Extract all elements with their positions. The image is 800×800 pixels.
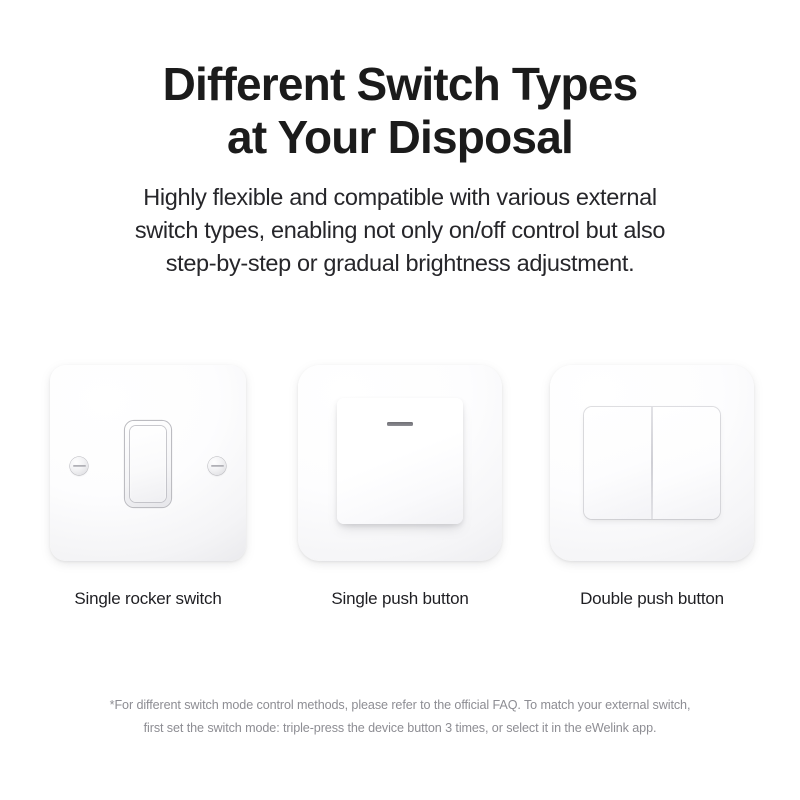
screw-icon: [208, 457, 226, 475]
push-button-paddle-left: [584, 407, 651, 519]
screw-icon: [70, 457, 88, 475]
rocker-bezel: [125, 421, 171, 507]
led-indicator-icon: [387, 422, 413, 426]
subtitle-line-1: Highly flexible and compatible with vari…: [90, 181, 710, 214]
page-title: Different Switch Types at Your Disposal: [0, 58, 800, 165]
product-gallery: Single rocker switch Single push button: [0, 360, 800, 620]
footnote-line-1: *For different switch mode control metho…: [0, 694, 800, 717]
faceplate: [50, 365, 246, 561]
faceplate: [298, 365, 502, 561]
double-push-button-image: [546, 360, 758, 565]
product-caption: Single rocker switch: [42, 589, 254, 609]
rocker-paddle: [130, 426, 166, 502]
footnote-line-2: first set the switch mode: triple-press …: [0, 717, 800, 740]
headline-line-1: Different Switch Types: [60, 58, 740, 111]
subtitle-line-3: step-by-step or gradual brightness adjus…: [90, 247, 710, 280]
header-block: Different Switch Types at Your Disposal …: [0, 58, 800, 281]
single-rocker-switch-image: [42, 360, 254, 565]
page-subtitle: Highly flexible and compatible with vari…: [90, 181, 710, 281]
product-double-push-button: Double push button: [546, 360, 758, 609]
faceplate: [550, 365, 754, 561]
subtitle-line-2: switch types, enabling not only on/off c…: [90, 214, 710, 247]
dual-paddle-group: [584, 407, 720, 519]
product-single-rocker-switch: Single rocker switch: [42, 360, 254, 609]
product-feature-page: Different Switch Types at Your Disposal …: [0, 0, 800, 800]
product-caption: Single push button: [294, 589, 506, 609]
product-single-push-button: Single push button: [294, 360, 506, 609]
push-button-paddle-right: [653, 407, 720, 519]
single-push-button-image: [294, 360, 506, 565]
push-button-paddle: [337, 398, 463, 524]
footnote: *For different switch mode control metho…: [0, 694, 800, 741]
product-caption: Double push button: [546, 589, 758, 609]
headline-line-2: at Your Disposal: [60, 111, 740, 164]
